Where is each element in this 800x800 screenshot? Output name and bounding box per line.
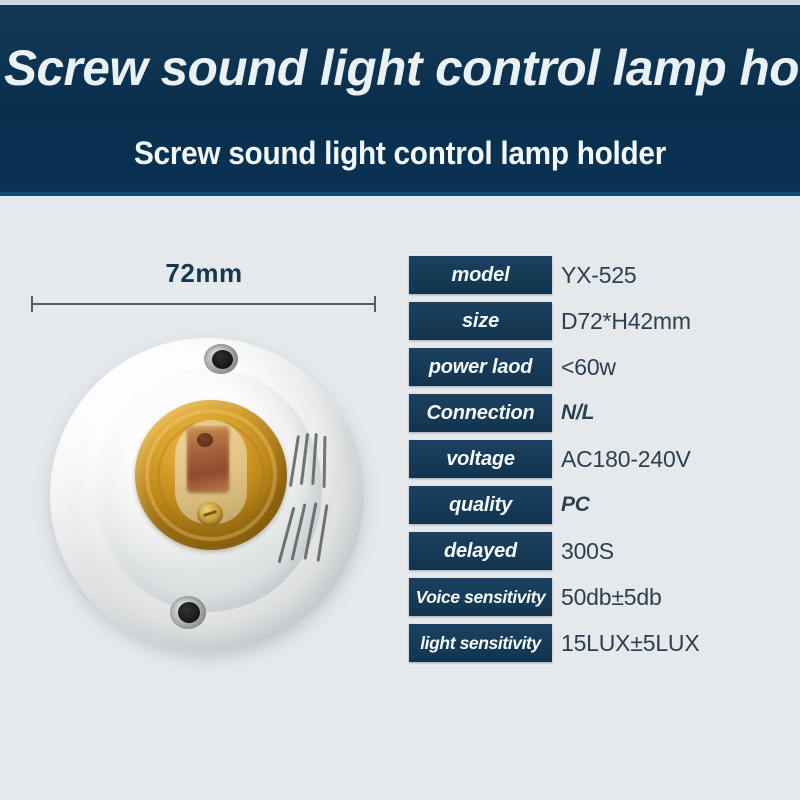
mounting-screw-hole-bottom-bore (178, 602, 200, 623)
table-row: quality PC (409, 486, 749, 524)
table-row: light sensitivity 15LUX±5LUX (409, 624, 749, 662)
table-row: Connection N/L (409, 394, 749, 432)
spec-key-delayed: delayed (409, 532, 552, 570)
spec-key-size: size (409, 302, 552, 340)
table-row: voltage AC180-240V (409, 440, 749, 478)
table-row: size D72*H42mm (409, 302, 749, 340)
dimension-annotation: 72mm (24, 258, 384, 318)
spec-value-size: D72*H42mm (552, 302, 749, 340)
spec-key-model: model (409, 256, 552, 294)
table-row: power laod <60w (409, 348, 749, 386)
dimension-cap-right (374, 296, 376, 312)
spec-value-delayed: 300S (552, 532, 749, 570)
socket-contact-notch (197, 433, 213, 447)
e27-socket (135, 400, 287, 550)
table-row: Voice sensitivity 50db±5db (409, 578, 749, 616)
dimension-cap-left (31, 296, 33, 312)
spec-value-light-sensitivity: 15LUX±5LUX (552, 624, 749, 662)
table-row: model YX-525 (409, 256, 749, 294)
spec-value-power-laod: <60w (552, 348, 749, 386)
spec-value-voltage: AC180-240V (552, 440, 749, 478)
header-banner: Screw sound light control lamp holder Sc… (0, 5, 800, 196)
spec-value-quality: PC (552, 486, 749, 524)
product-image (42, 330, 372, 660)
mounting-screw-hole-top-bore (212, 350, 233, 369)
spec-value-connection: N/L (552, 394, 749, 432)
spec-key-light-sensitivity: light sensitivity (409, 624, 552, 662)
spec-key-connection: Connection (409, 394, 552, 432)
page-subtitle: Screw sound light control lamp holder (28, 133, 772, 173)
specification-table: model YX-525 size D72*H42mm power laod <… (409, 256, 749, 670)
spec-value-model: YX-525 (552, 256, 749, 294)
table-row: delayed 300S (409, 532, 749, 570)
dimension-line (31, 303, 376, 305)
dimension-label: 72mm (24, 258, 384, 289)
page-title: Screw sound light control lamp holder (4, 39, 796, 97)
spec-key-power-laod: power laod (409, 348, 552, 386)
spec-value-voice-sensitivity: 50db±5db (552, 578, 749, 616)
spec-key-quality: quality (409, 486, 552, 524)
spec-key-voltage: voltage (409, 440, 552, 478)
spec-key-voice-sensitivity: Voice sensitivity (409, 578, 552, 616)
